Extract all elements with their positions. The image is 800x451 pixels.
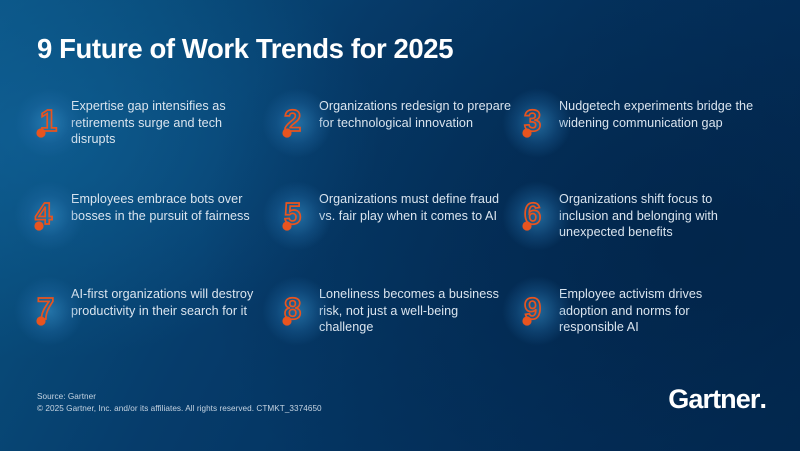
trend-number-badge: 8 — [278, 289, 314, 333]
trend-item: 3 Nudgetech experiments bridge the widen… — [518, 98, 775, 191]
trend-number-badge: 9 — [518, 289, 554, 333]
trend-item: 2 Organizations redesign to prepare for … — [278, 98, 518, 191]
number-dot-icon — [522, 316, 531, 325]
trend-number-badge: 3 — [518, 101, 554, 145]
trend-description: Organizations shift focus to inclusion a… — [554, 191, 754, 241]
infographic-poster: 9 Future of Work Trends for 2025 1 Exper… — [0, 0, 800, 451]
number-outline-icon: 3 — [520, 101, 554, 141]
number-dot-icon — [522, 128, 531, 137]
number-outline-icon: 1 — [32, 101, 66, 141]
trend-description: AI-first organizations will destroy prod… — [66, 286, 266, 319]
trend-description: Loneliness becomes a business risk, not … — [314, 286, 514, 336]
number-dot-icon — [36, 316, 45, 325]
number-outline-icon: 4 — [32, 194, 66, 234]
trend-description: Employees embrace bots over bosses in th… — [66, 191, 266, 224]
trend-description: Organizations must define fraud vs. fair… — [314, 191, 514, 224]
gartner-logo-text: Gartner — [668, 384, 759, 414]
footer-source: Source: Gartner — [37, 391, 322, 403]
trend-description: Nudgetech experiments bridge the widenin… — [554, 98, 754, 131]
trend-item: 9 Employee activism drives adoption and … — [518, 286, 775, 381]
trend-item: 6 Organizations shift focus to inclusion… — [518, 191, 775, 286]
trend-number-badge: 4 — [30, 194, 66, 238]
number-dot-icon — [522, 221, 531, 230]
trend-number-badge: 2 — [278, 101, 314, 145]
number-outline-icon: 6 — [520, 194, 554, 234]
footer-attribution: Source: Gartner © 2025 Gartner, Inc. and… — [37, 391, 322, 415]
footer-copyright: © 2025 Gartner, Inc. and/or its affiliat… — [37, 403, 322, 415]
trend-number-badge: 1 — [30, 101, 66, 145]
trend-description: Expertise gap intensifies as retirements… — [66, 98, 266, 148]
trend-item: 7 AI-first organizations will destroy pr… — [30, 286, 278, 381]
page-title: 9 Future of Work Trends for 2025 — [37, 33, 453, 65]
trend-description: Organizations redesign to prepare for te… — [314, 98, 514, 131]
trend-number-badge: 7 — [30, 289, 66, 333]
number-outline-icon: 9 — [520, 289, 554, 329]
gartner-logo-dot: . — [759, 384, 767, 414]
trend-description: Employee activism drives adoption and no… — [554, 286, 754, 336]
number-outline-icon: 2 — [280, 101, 314, 141]
trend-item: 8 Loneliness becomes a business risk, no… — [278, 286, 518, 381]
trends-grid: 1 Expertise gap intensifies as retiremen… — [30, 98, 775, 381]
trend-number-badge: 6 — [518, 194, 554, 238]
number-outline-icon: 5 — [280, 194, 314, 234]
trend-number-badge: 5 — [278, 194, 314, 238]
number-dot-icon — [34, 221, 43, 230]
number-outline-icon: 8 — [280, 289, 314, 329]
trend-item: 4 Employees embrace bots over bosses in … — [30, 191, 278, 286]
trend-item: 5 Organizations must define fraud vs. fa… — [278, 191, 518, 286]
number-dot-icon — [36, 128, 45, 137]
number-dot-icon — [282, 128, 291, 137]
number-outline-icon: 7 — [32, 289, 66, 329]
number-dot-icon — [282, 221, 291, 230]
number-dot-icon — [282, 316, 291, 325]
trend-item: 1 Expertise gap intensifies as retiremen… — [30, 98, 278, 191]
gartner-logo: Gartner. — [668, 384, 767, 415]
